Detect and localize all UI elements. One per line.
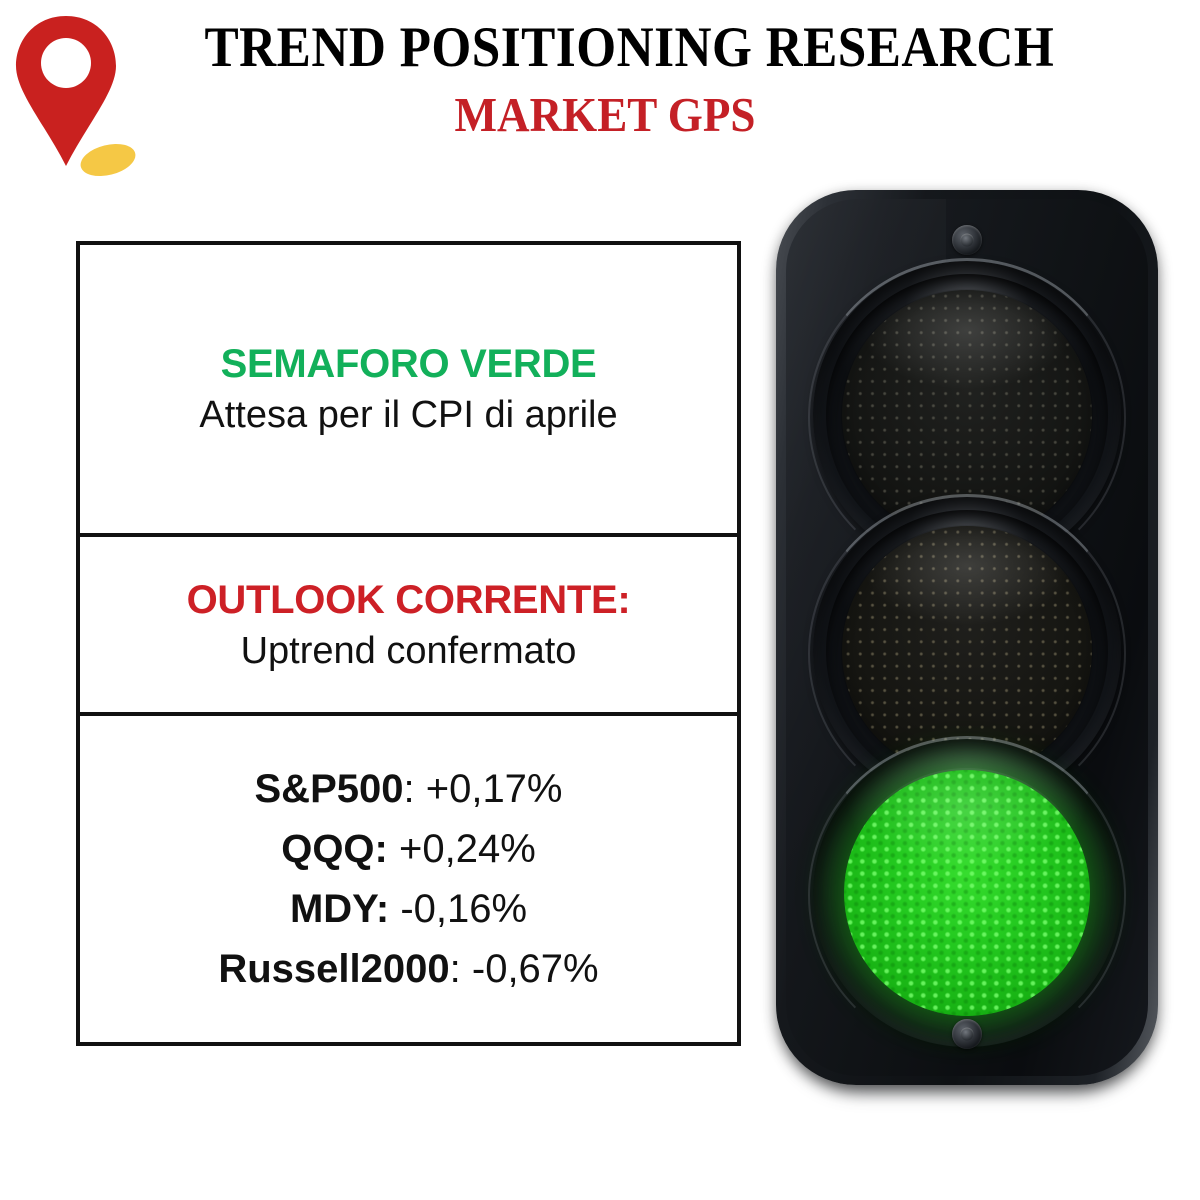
traffic-light-housing (776, 190, 1158, 1085)
signal-cell: SEMAFORO VERDE Attesa per il CPI di apri… (80, 245, 737, 537)
market-ticker: QQQ: (281, 827, 388, 871)
market-ticker: S&P500 (255, 767, 404, 811)
header-banner: TREND POSITIONING RESEARCH MARKET GPS (0, 0, 1200, 180)
green-lamp-led-matrix-secondary (844, 770, 1090, 1016)
market-value: +0,17% (426, 767, 563, 811)
market-row: S&P500: +0,17% (255, 759, 563, 819)
market-value: -0,16% (400, 887, 527, 931)
green-lamp-lens (844, 770, 1090, 1016)
signal-status-heading: SEMAFORO VERDE (221, 340, 597, 388)
outlook-heading: OUTLOOK CORRENTE: (187, 576, 631, 624)
traffic-light-faceplate (786, 199, 1148, 1076)
traffic-light-illustration (776, 190, 1158, 1095)
market-row: QQQ: +0,24% (281, 819, 536, 879)
market-ticker: Russell2000 (218, 947, 449, 991)
market-summary-panel: SEMAFORO VERDE Attesa per il CPI di apri… (76, 241, 741, 1046)
market-separator: : (450, 947, 472, 991)
market-separator: : (403, 767, 425, 811)
screw-icon (952, 225, 982, 255)
market-row: MDY: -0,16% (290, 879, 527, 939)
outlook-subtext: Uptrend confermato (241, 628, 577, 674)
page-title: TREND POSITIONING RESEARCH (205, 16, 1006, 80)
green-lamp (813, 739, 1121, 1047)
market-value: +0,24% (399, 827, 536, 871)
market-row: Russell2000: -0,67% (218, 939, 598, 999)
market-value: -0,67% (472, 947, 599, 991)
market-ticker: MDY: (290, 887, 389, 931)
signal-subtext: Attesa per il CPI di aprile (199, 392, 617, 438)
market-separator (388, 827, 399, 871)
map-pin-icon (10, 8, 170, 178)
title-block: TREND POSITIONING RESEARCH MARKET GPS (160, 16, 1050, 144)
markets-cell: S&P500: +0,17% QQQ: +0,24% MDY: -0,16% R… (80, 716, 737, 1042)
page-subtitle: MARKET GPS (196, 86, 1015, 144)
screw-icon (952, 1019, 982, 1049)
market-separator (389, 887, 400, 931)
outlook-cell: OUTLOOK CORRENTE: Uptrend confermato (80, 537, 737, 716)
